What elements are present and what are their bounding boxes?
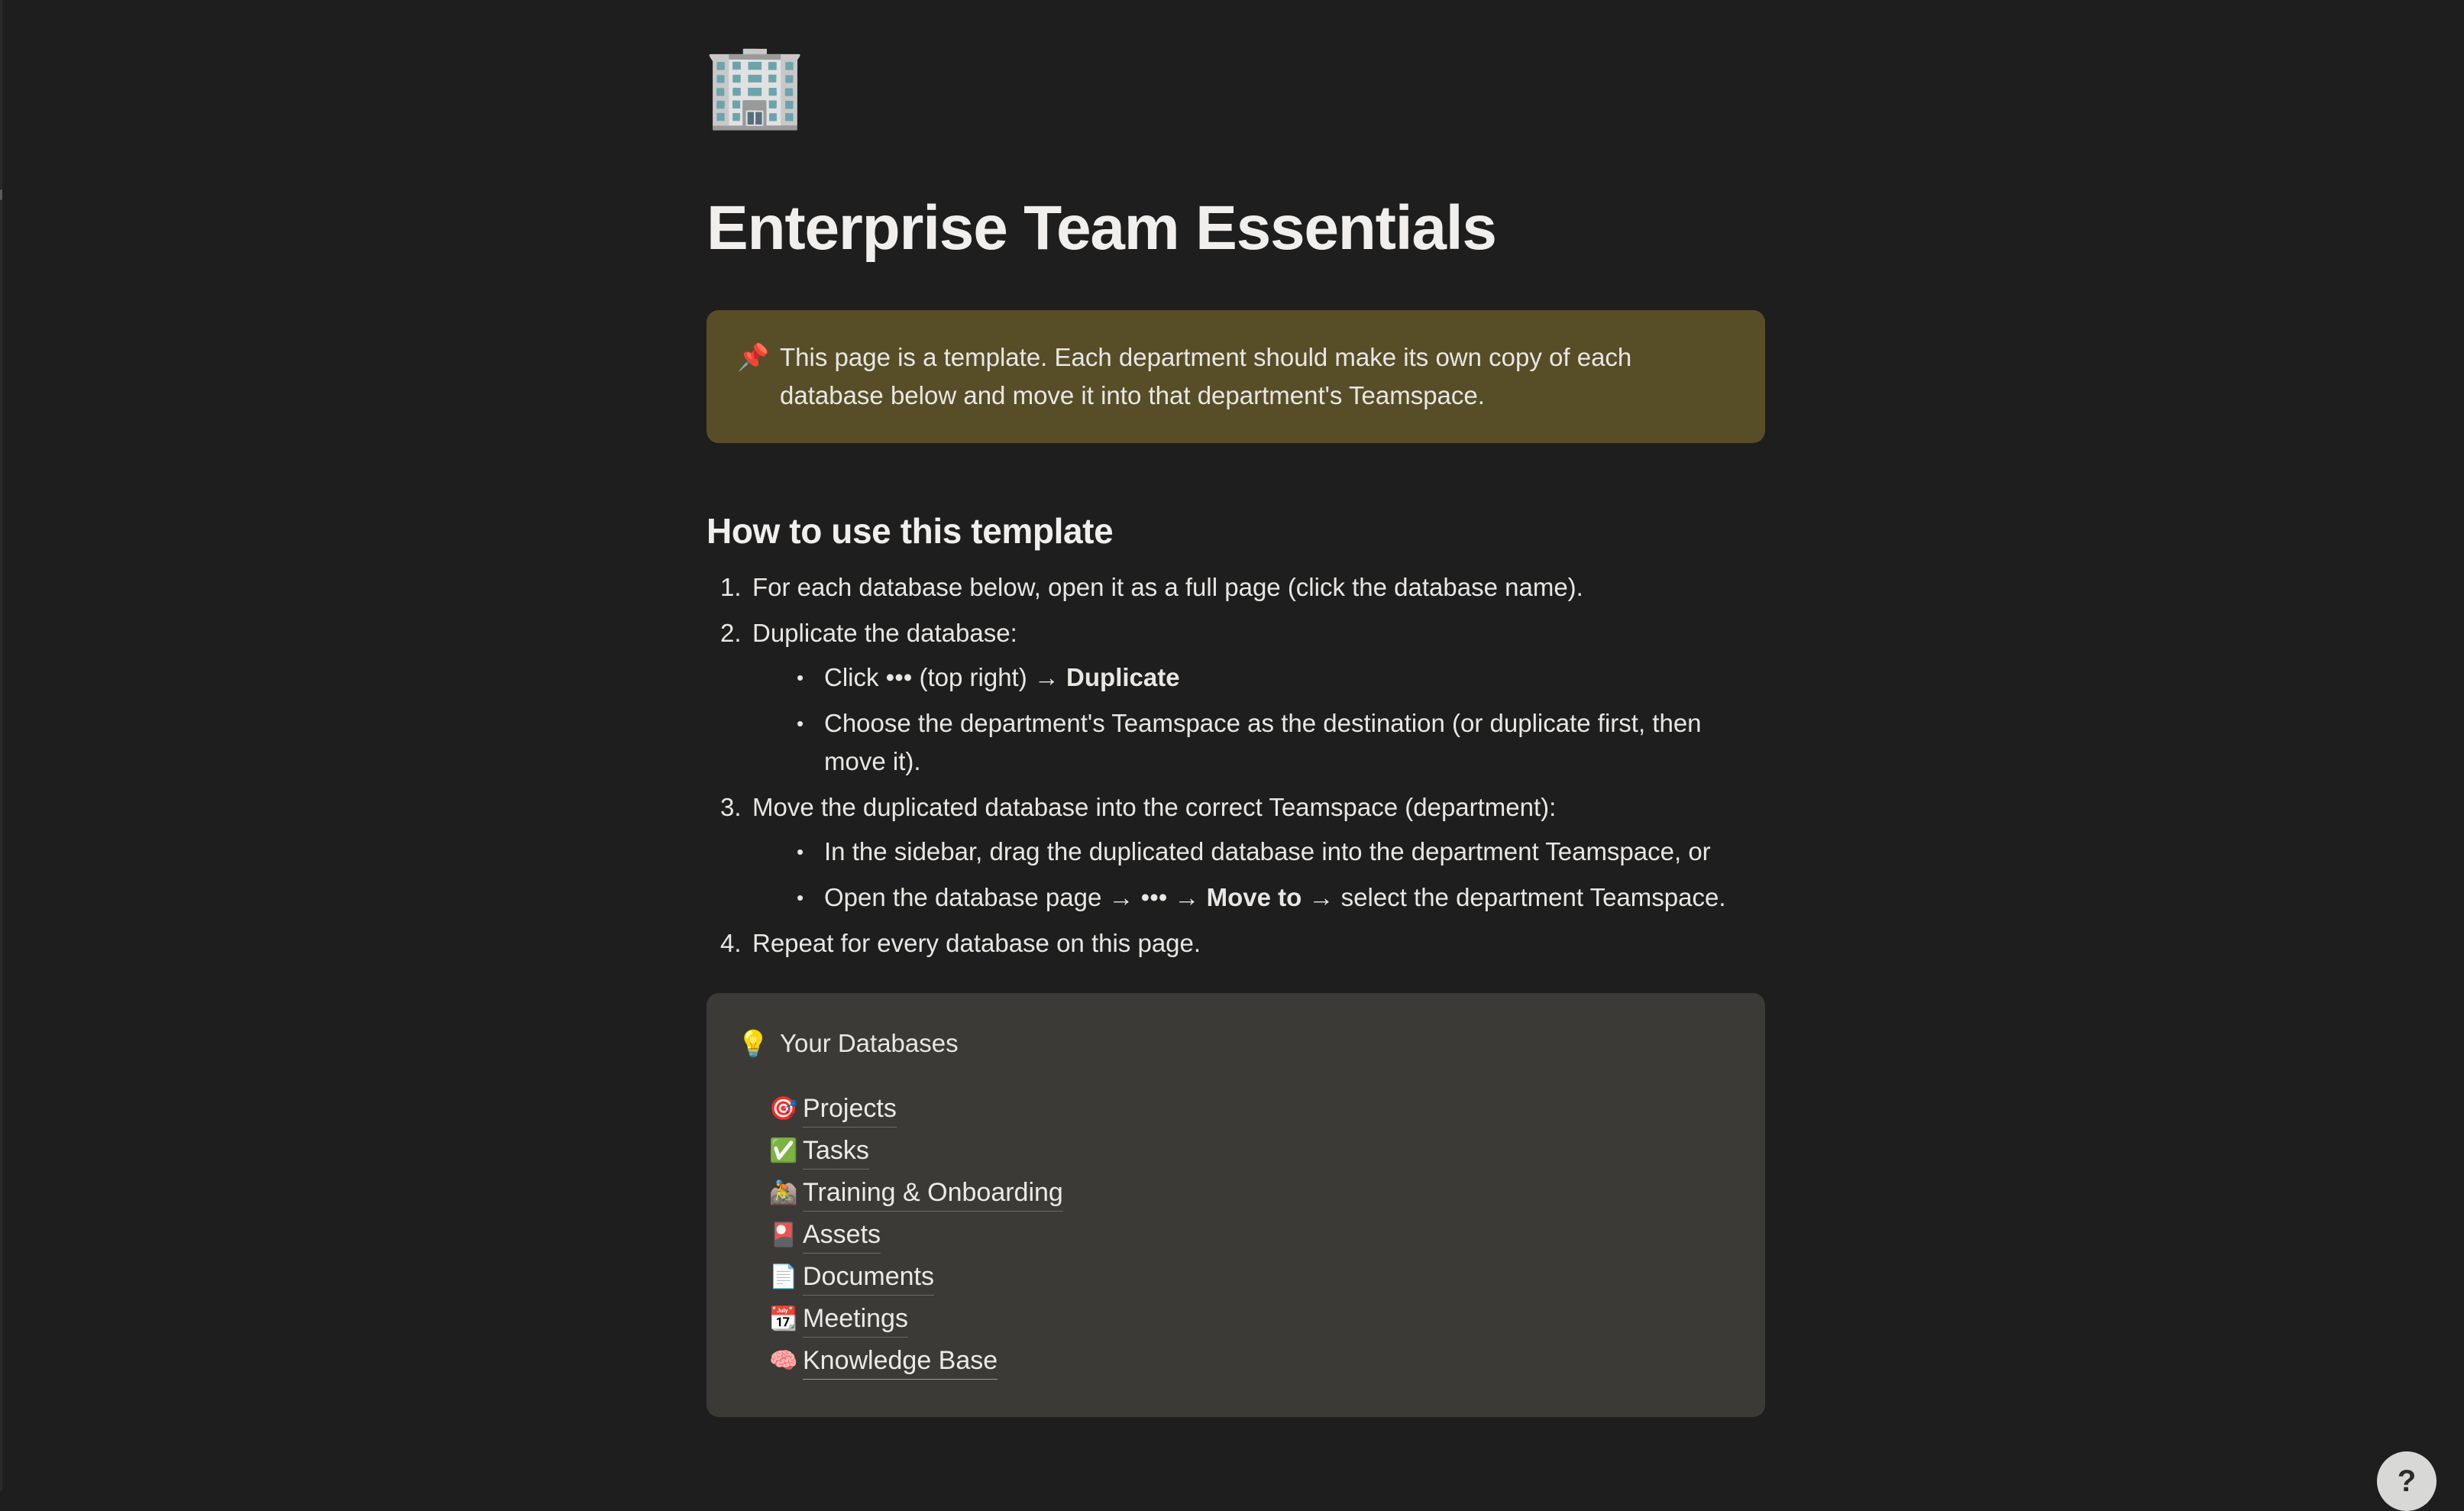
page-facing-up-emoji: 📄 [769, 1266, 803, 1289]
step-text: For each database below, open it as a fu… [752, 573, 1583, 601]
bullet-icon: • [797, 878, 804, 917]
your-databases-heading: Your Databases [780, 1025, 959, 1062]
database-link[interactable]: Meetings [803, 1301, 908, 1338]
database-link-list: 🎯Projects✅Tasks🚵Training & Onboarding🎴As… [737, 1088, 1063, 1382]
bullet-icon: • [797, 704, 804, 743]
bullet-icon: • [797, 658, 804, 697]
database-link[interactable]: Assets [803, 1217, 881, 1254]
database-list-item[interactable]: 🎯Projects [769, 1088, 1063, 1130]
bullet-icon: • [797, 833, 804, 871]
database-link[interactable]: Knowledge Base [803, 1343, 998, 1380]
mountain-biker-emoji: 🚵 [769, 1182, 803, 1205]
step-number: 1. [720, 568, 748, 607]
page-scroll-area[interactable]: 🏢 Enterprise Team Essentials 📌 This page… [0, 0, 2464, 1491]
database-list-item[interactable]: 📄Documents [769, 1256, 1063, 1298]
how-to-use-heading: How to use this template [707, 510, 1765, 552]
database-list-item[interactable]: 🧠Knowledge Base [769, 1340, 1063, 1382]
substep-emphasis: Move to [1207, 883, 1302, 911]
step-text: Move the duplicated database into the co… [752, 793, 1556, 821]
how-to-substep: •Open the database page → ••• → Move to … [794, 878, 1765, 917]
how-to-substep-list: •Click ••• (top right) → Duplicate•Choos… [752, 658, 1765, 781]
your-databases-callout-header: 💡 Your Databases [737, 1025, 959, 1063]
template-notice-text: This page is a template. Each department… [780, 338, 1735, 415]
substep-text: Open the database page → ••• → [824, 883, 1207, 911]
brain-emoji: 🧠 [769, 1350, 803, 1373]
tear-off-calendar-emoji: 📆 [769, 1308, 803, 1331]
how-to-step: 4.Repeat for every database on this page… [707, 924, 1765, 963]
database-list-item[interactable]: 📆Meetings [769, 1298, 1063, 1340]
flower-playing-cards-emoji: 🎴 [769, 1224, 803, 1247]
pushpin-emoji: 📌 [737, 338, 780, 377]
how-to-step: 3.Move the duplicated database into the … [707, 788, 1765, 917]
step-number: 3. [720, 788, 748, 827]
step-text: Duplicate the database: [752, 619, 1017, 647]
page-title: Enterprise Team Essentials [707, 194, 1765, 263]
help-circle-icon[interactable]: ? [2377, 1451, 2437, 1511]
your-databases-callout: 💡 Your Databases 🎯Projects✅Tasks🚵Trainin… [707, 993, 1765, 1417]
how-to-steps-list: 1.For each database below, open it as a … [707, 568, 1765, 963]
how-to-substep: •Click ••• (top right) → Duplicate [794, 658, 1765, 697]
substep-text: Click ••• (top right) → [824, 663, 1066, 691]
database-link[interactable]: Tasks [803, 1133, 869, 1170]
database-link[interactable]: Training & Onboarding [803, 1175, 1063, 1212]
page-content-column: 🏢 Enterprise Team Essentials 📌 This page… [707, 0, 1765, 1417]
database-link[interactable]: Projects [803, 1091, 897, 1128]
database-list-item[interactable]: 🎴Assets [769, 1214, 1063, 1256]
substep-emphasis: Duplicate [1066, 663, 1180, 691]
substep-text: In the sidebar, drag the duplicated data… [824, 837, 1711, 866]
step-text: Repeat for every database on this page. [752, 929, 1201, 957]
substep-text: Choose the department's Teamspace as the… [824, 709, 1702, 775]
substep-text: → select the department Teamspace. [1302, 883, 1725, 911]
check-mark-button-emoji: ✅ [769, 1140, 803, 1163]
how-to-substep-list: •In the sidebar, drag the duplicated dat… [752, 833, 1765, 917]
step-number: 4. [720, 924, 748, 963]
database-list-item[interactable]: 🚵Training & Onboarding [769, 1172, 1063, 1214]
how-to-substep: •In the sidebar, drag the duplicated dat… [794, 833, 1765, 871]
database-list-item[interactable]: ✅Tasks [769, 1130, 1063, 1172]
direct-hit-emoji: 🎯 [769, 1098, 803, 1121]
office-building-emoji[interactable]: 🏢 [704, 44, 1765, 134]
step-number: 2. [720, 614, 748, 652]
how-to-step: 1.For each database below, open it as a … [707, 568, 1765, 607]
database-link[interactable]: Documents [803, 1259, 934, 1296]
how-to-step: 2.Duplicate the database:•Click ••• (top… [707, 614, 1765, 781]
how-to-substep: •Choose the department's Teamspace as th… [794, 704, 1765, 781]
light-bulb-emoji: 💡 [737, 1025, 780, 1063]
template-notice-callout: 📌 This page is a template. Each departme… [707, 310, 1765, 443]
